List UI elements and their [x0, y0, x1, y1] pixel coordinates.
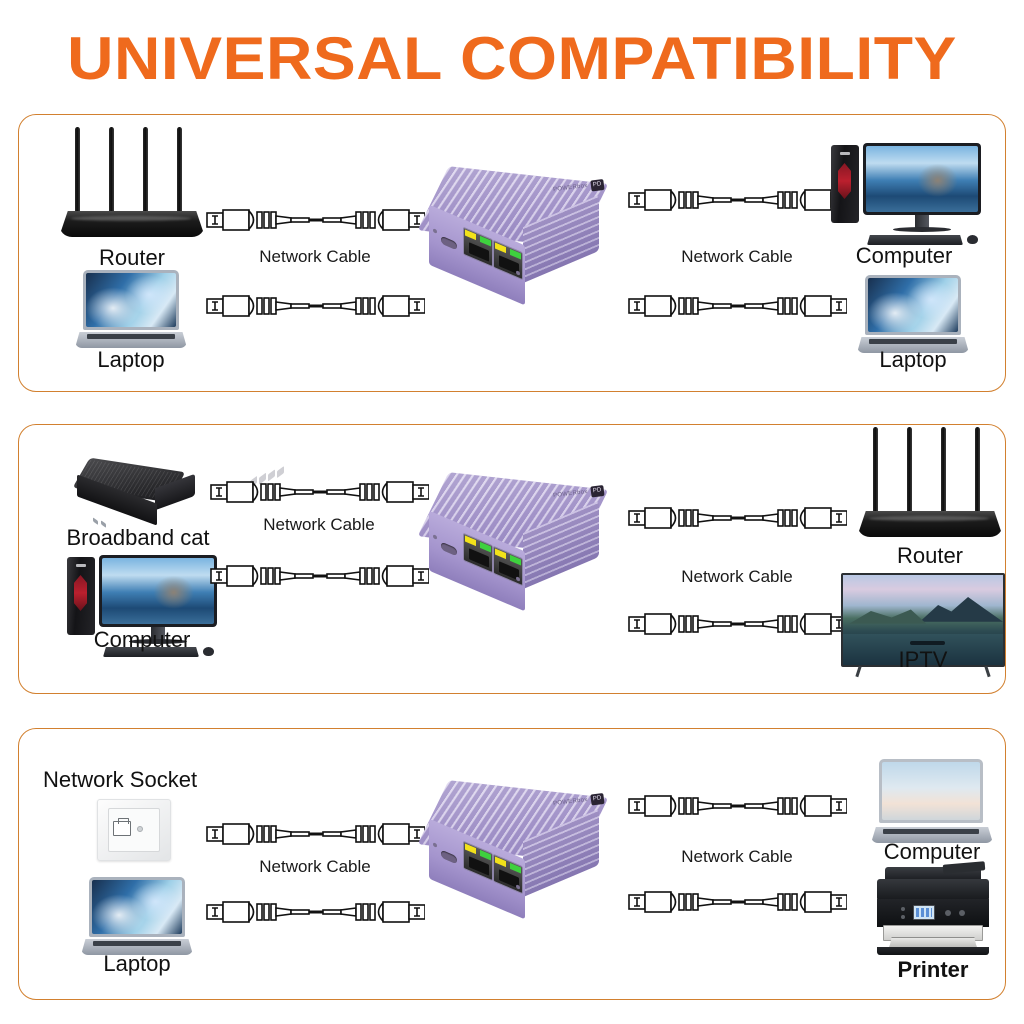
laptop-icon	[871, 759, 993, 843]
device-label-printer: Printer	[867, 957, 999, 983]
laptop-icon	[857, 275, 969, 353]
network-cable-icon	[209, 477, 429, 507]
laptop-icon	[75, 270, 187, 348]
device-label-computer: Computer	[57, 627, 227, 653]
network-cable-icon	[627, 503, 847, 533]
cable-label: Network Cable	[627, 567, 847, 587]
printer-icon	[875, 867, 991, 955]
wall-socket-icon	[97, 799, 171, 861]
network-cable-icon	[627, 609, 847, 639]
cable-label: Network Cable	[205, 857, 425, 877]
network-cable-icon	[205, 819, 425, 849]
network-cable-icon	[627, 791, 847, 821]
splitter-icon: POWERbox PD	[415, 473, 615, 623]
cable-label: Network Cable	[627, 847, 847, 867]
device-label-broadband-cat: Broadband cat	[43, 525, 233, 551]
device-label-iptv: IPTV	[841, 647, 1005, 673]
cable-label: Network Cable	[205, 247, 425, 267]
laptop-icon	[81, 877, 193, 955]
device-label-network-socket: Network Socket	[43, 767, 243, 793]
network-cable-icon	[209, 561, 429, 591]
network-cable-icon	[627, 887, 847, 917]
network-cable-icon	[205, 291, 425, 321]
splitter-icon: POWERbox PD	[415, 781, 615, 931]
modem-icon	[67, 461, 193, 525]
cable-label: Network Cable	[209, 515, 429, 535]
device-label-router: Router	[57, 245, 207, 271]
network-cable-icon	[205, 897, 425, 927]
device-label-laptop: Laptop	[847, 347, 979, 373]
device-label-computer: Computer	[847, 839, 1017, 865]
desktop-computer-icon	[831, 143, 981, 247]
product-compatibility-infographic: UNIVERSAL COMPATIBILITY Router Laptop	[0, 0, 1024, 1024]
page-title: UNIVERSAL COMPATIBILITY	[0, 24, 1024, 93]
compatibility-panel-2: Broadband cat Computer	[18, 424, 1006, 694]
cable-label: Network Cable	[627, 247, 847, 267]
device-label-laptop: Laptop	[71, 951, 203, 977]
device-label-laptop: Laptop	[65, 347, 197, 373]
network-cable-icon	[627, 185, 847, 215]
splitter-icon: POWERbox PD	[415, 167, 615, 317]
device-label-router: Router	[855, 543, 1005, 569]
router-icon	[855, 433, 1005, 545]
network-cable-icon	[627, 291, 847, 321]
network-cable-icon	[205, 205, 425, 235]
compatibility-panel-3: Network Socket Laptop	[18, 728, 1006, 1000]
device-label-computer: Computer	[819, 243, 989, 269]
router-icon	[57, 133, 207, 245]
compatibility-panel-1: Router Laptop	[18, 114, 1006, 392]
